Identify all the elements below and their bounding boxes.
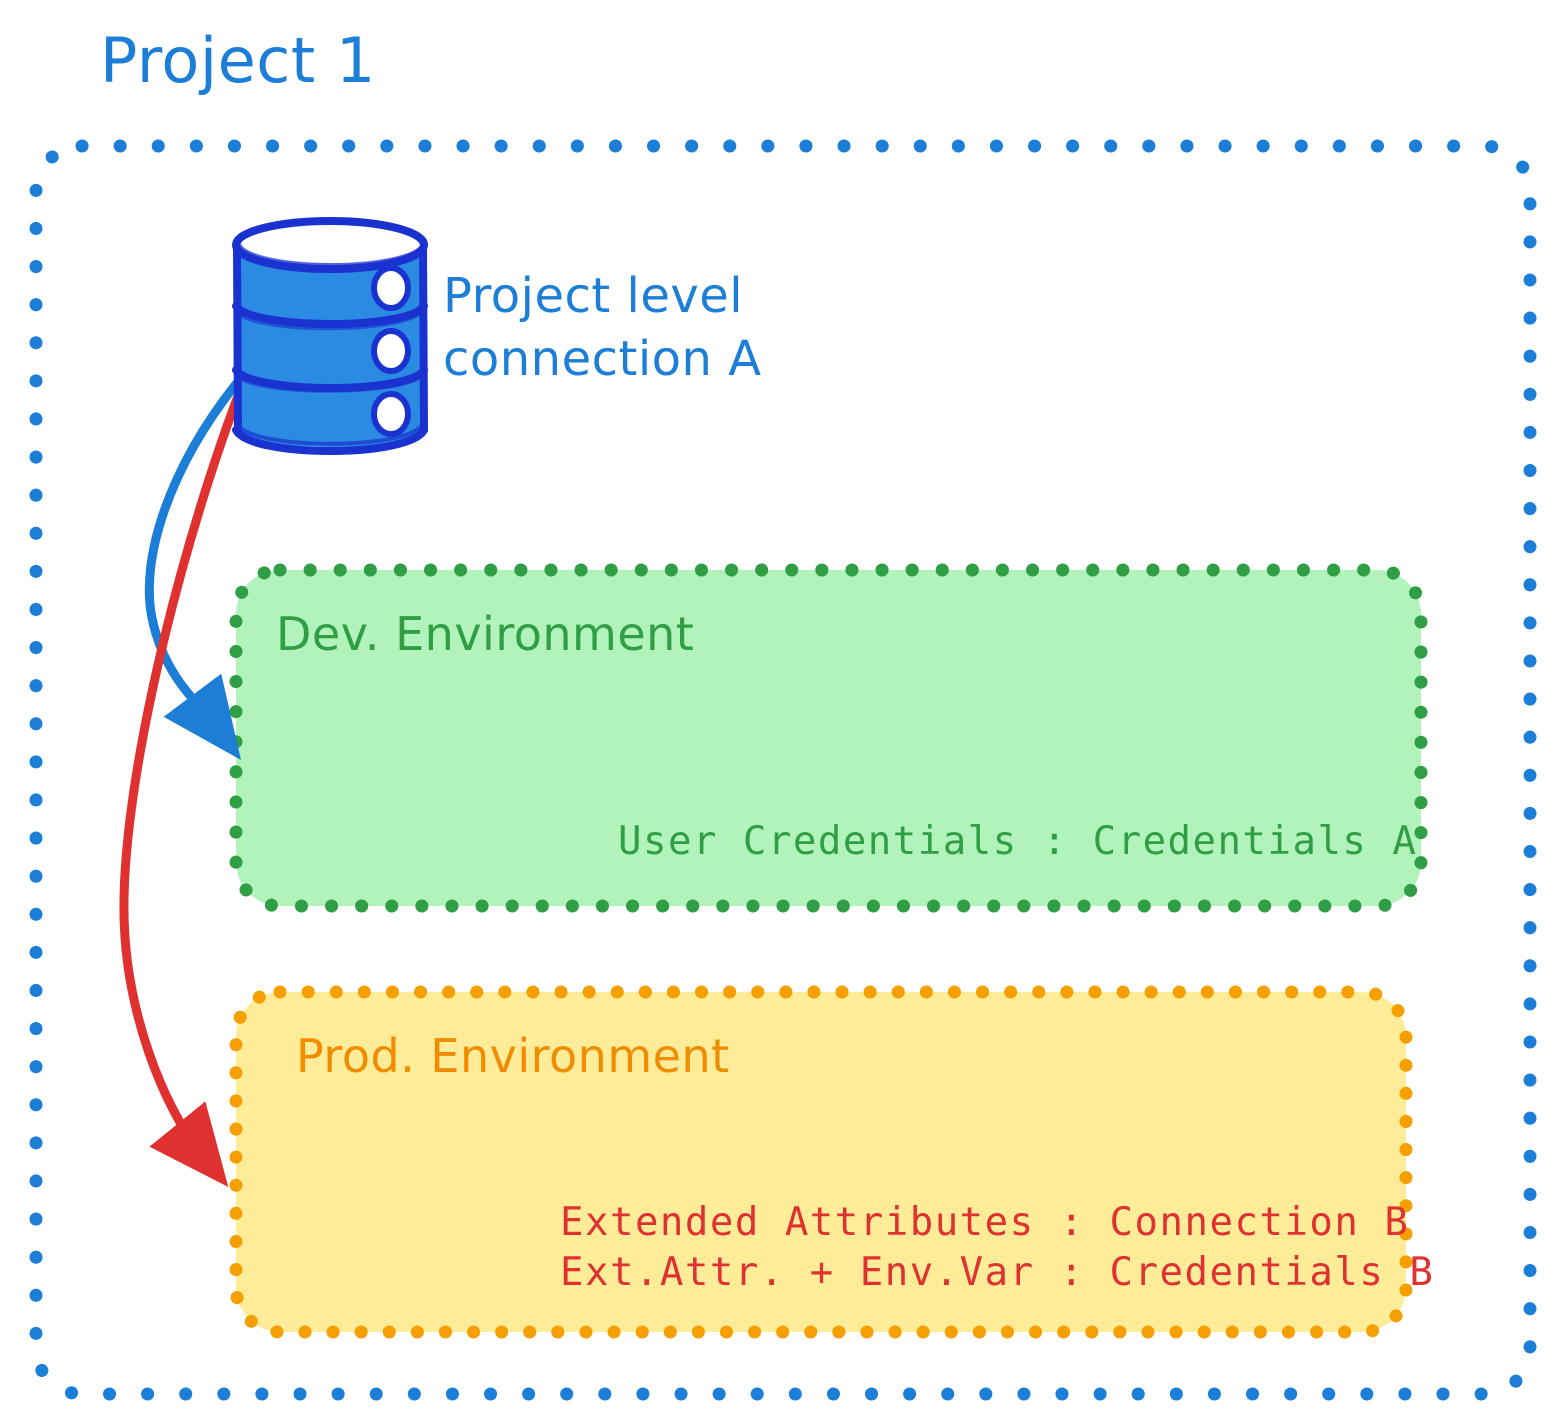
database-label-line1: Project level [443,268,743,324]
prod-environment-entry-0: Extended Attributes : Connection B [560,1200,1409,1245]
database-label: Project levelconnection A [443,265,762,392]
page-title: Project 1 [100,22,376,100]
db-indicator-1 [374,268,408,308]
db-indicator-3 [374,394,408,434]
dev-environment-entry-0: User Credentials : Credentials A [618,818,1417,867]
db-indicator-2 [374,331,408,371]
diagram-canvas: Project 1 Project levelconnection A Dev.… [0,0,1553,1415]
database-label-line2: connection A [443,331,762,387]
prod-environment-entries: Extended Attributes : Connection BExt.At… [560,1198,1434,1298]
prod-environment-title: Prod. Environment [296,1028,730,1086]
prod-environment-entry-1: Ext.Attr. + Env.Var : Credentials B [560,1250,1434,1295]
database-cylinder-icon[interactable] [236,221,424,451]
dev-environment-title: Dev. Environment [276,606,694,664]
